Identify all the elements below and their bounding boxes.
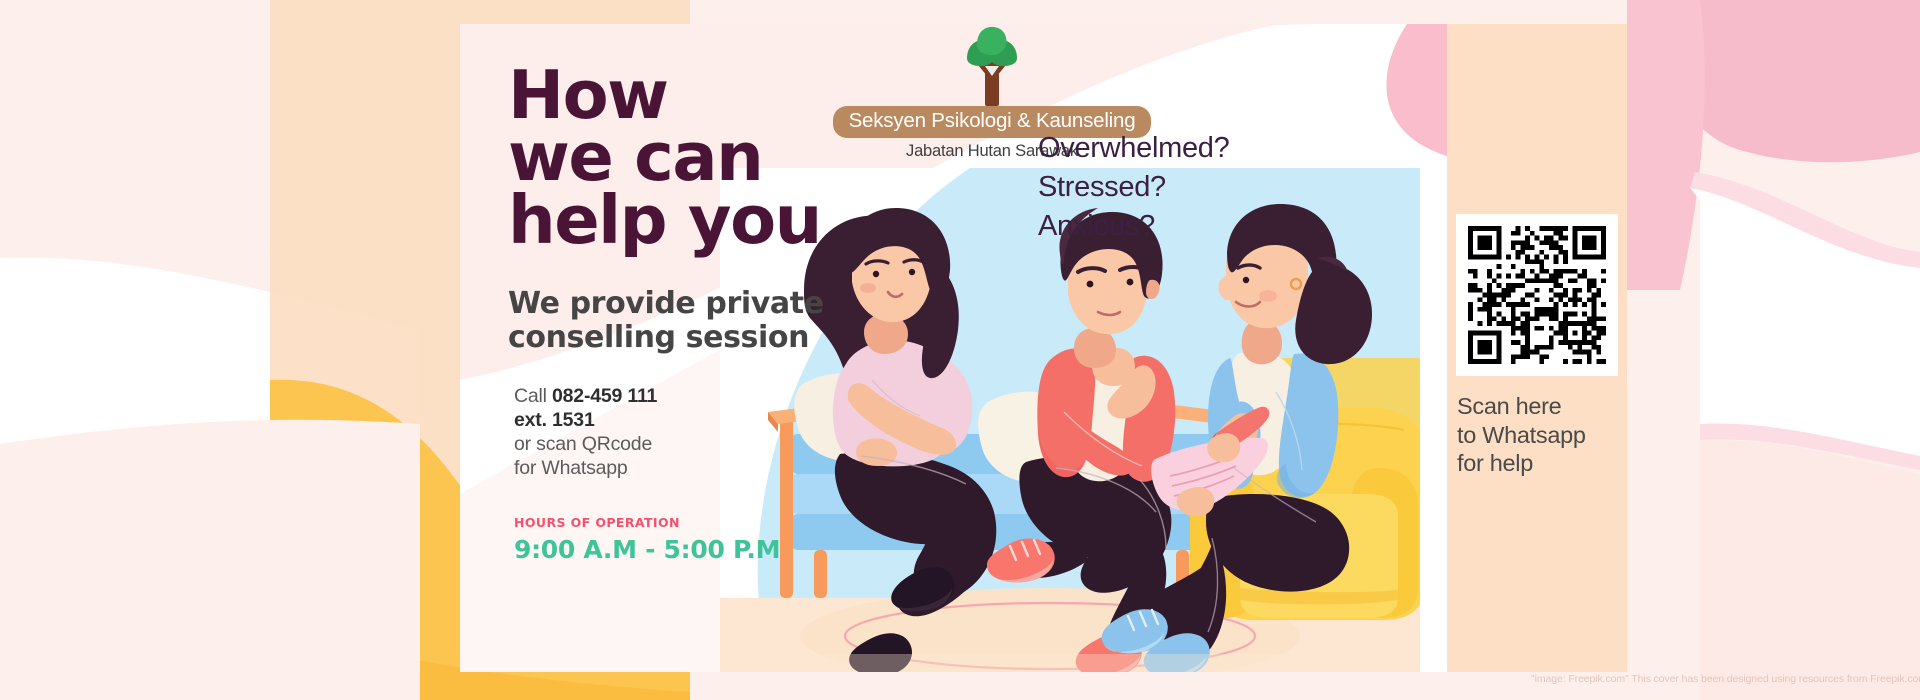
headline-line-1: How <box>508 64 868 126</box>
contact-phone-line: Call 082-459 111 <box>514 384 868 408</box>
headline-block: How we can help you We provide private c… <box>508 64 868 564</box>
poster-canvas: Seksyen Psikologi & Kaunseling Jabatan H… <box>0 0 1920 700</box>
hours-label: HOURS OF OPERATION <box>514 515 868 530</box>
tree-logo-icon <box>949 26 1035 106</box>
extension-value: ext. 1531 <box>514 409 595 431</box>
contact-extension: ext. 1531 <box>514 408 868 432</box>
qr-code-container[interactable] <box>1456 214 1618 376</box>
call-prefix-label: Call <box>514 385 552 407</box>
question-line-3: Anxious? <box>1038 207 1229 246</box>
qr-caption: Scan here to Whatsapp for help <box>1457 392 1627 478</box>
subheadline: We provide private conselling session <box>508 287 838 356</box>
questions-block: Overwhelmed? Stressed? Anxious? <box>1038 129 1229 246</box>
qr-caption-line-3: for help <box>1457 449 1627 478</box>
question-line-1: Overwhelmed? <box>1038 129 1229 168</box>
hours-value: 9:00 A.M - 5:00 P.M <box>514 535 868 564</box>
subheadline-line-1: We provide private <box>508 287 838 322</box>
question-line-2: Stressed? <box>1038 168 1229 207</box>
contact-line-4: for Whatsapp <box>514 456 868 480</box>
poster-card: Seksyen Psikologi & Kaunseling Jabatan H… <box>460 24 1627 672</box>
headline-line-3: help you <box>508 189 868 251</box>
qr-caption-line-1: Scan here <box>1457 392 1627 421</box>
subheadline-line-2: conselling session <box>508 321 838 356</box>
headline-line-2: we can <box>508 126 868 188</box>
qr-code-icon[interactable] <box>1468 226 1606 364</box>
contact-block: Call 082-459 111 ext. 1531 or scan QRcod… <box>514 384 868 481</box>
qr-panel: Scan here to Whatsapp for help <box>1447 24 1627 672</box>
contact-line-3: or scan QRcode <box>514 432 868 456</box>
phone-number[interactable]: 082-459 111 <box>552 385 657 407</box>
qr-caption-line-2: to Whatsapp <box>1457 421 1627 450</box>
hours-block: HOURS OF OPERATION 9:00 A.M - 5:00 P.M <box>514 515 868 564</box>
image-credit: "image: Freepik.com" This cover has been… <box>1531 673 1920 685</box>
page-title: How we can help you <box>508 64 868 251</box>
